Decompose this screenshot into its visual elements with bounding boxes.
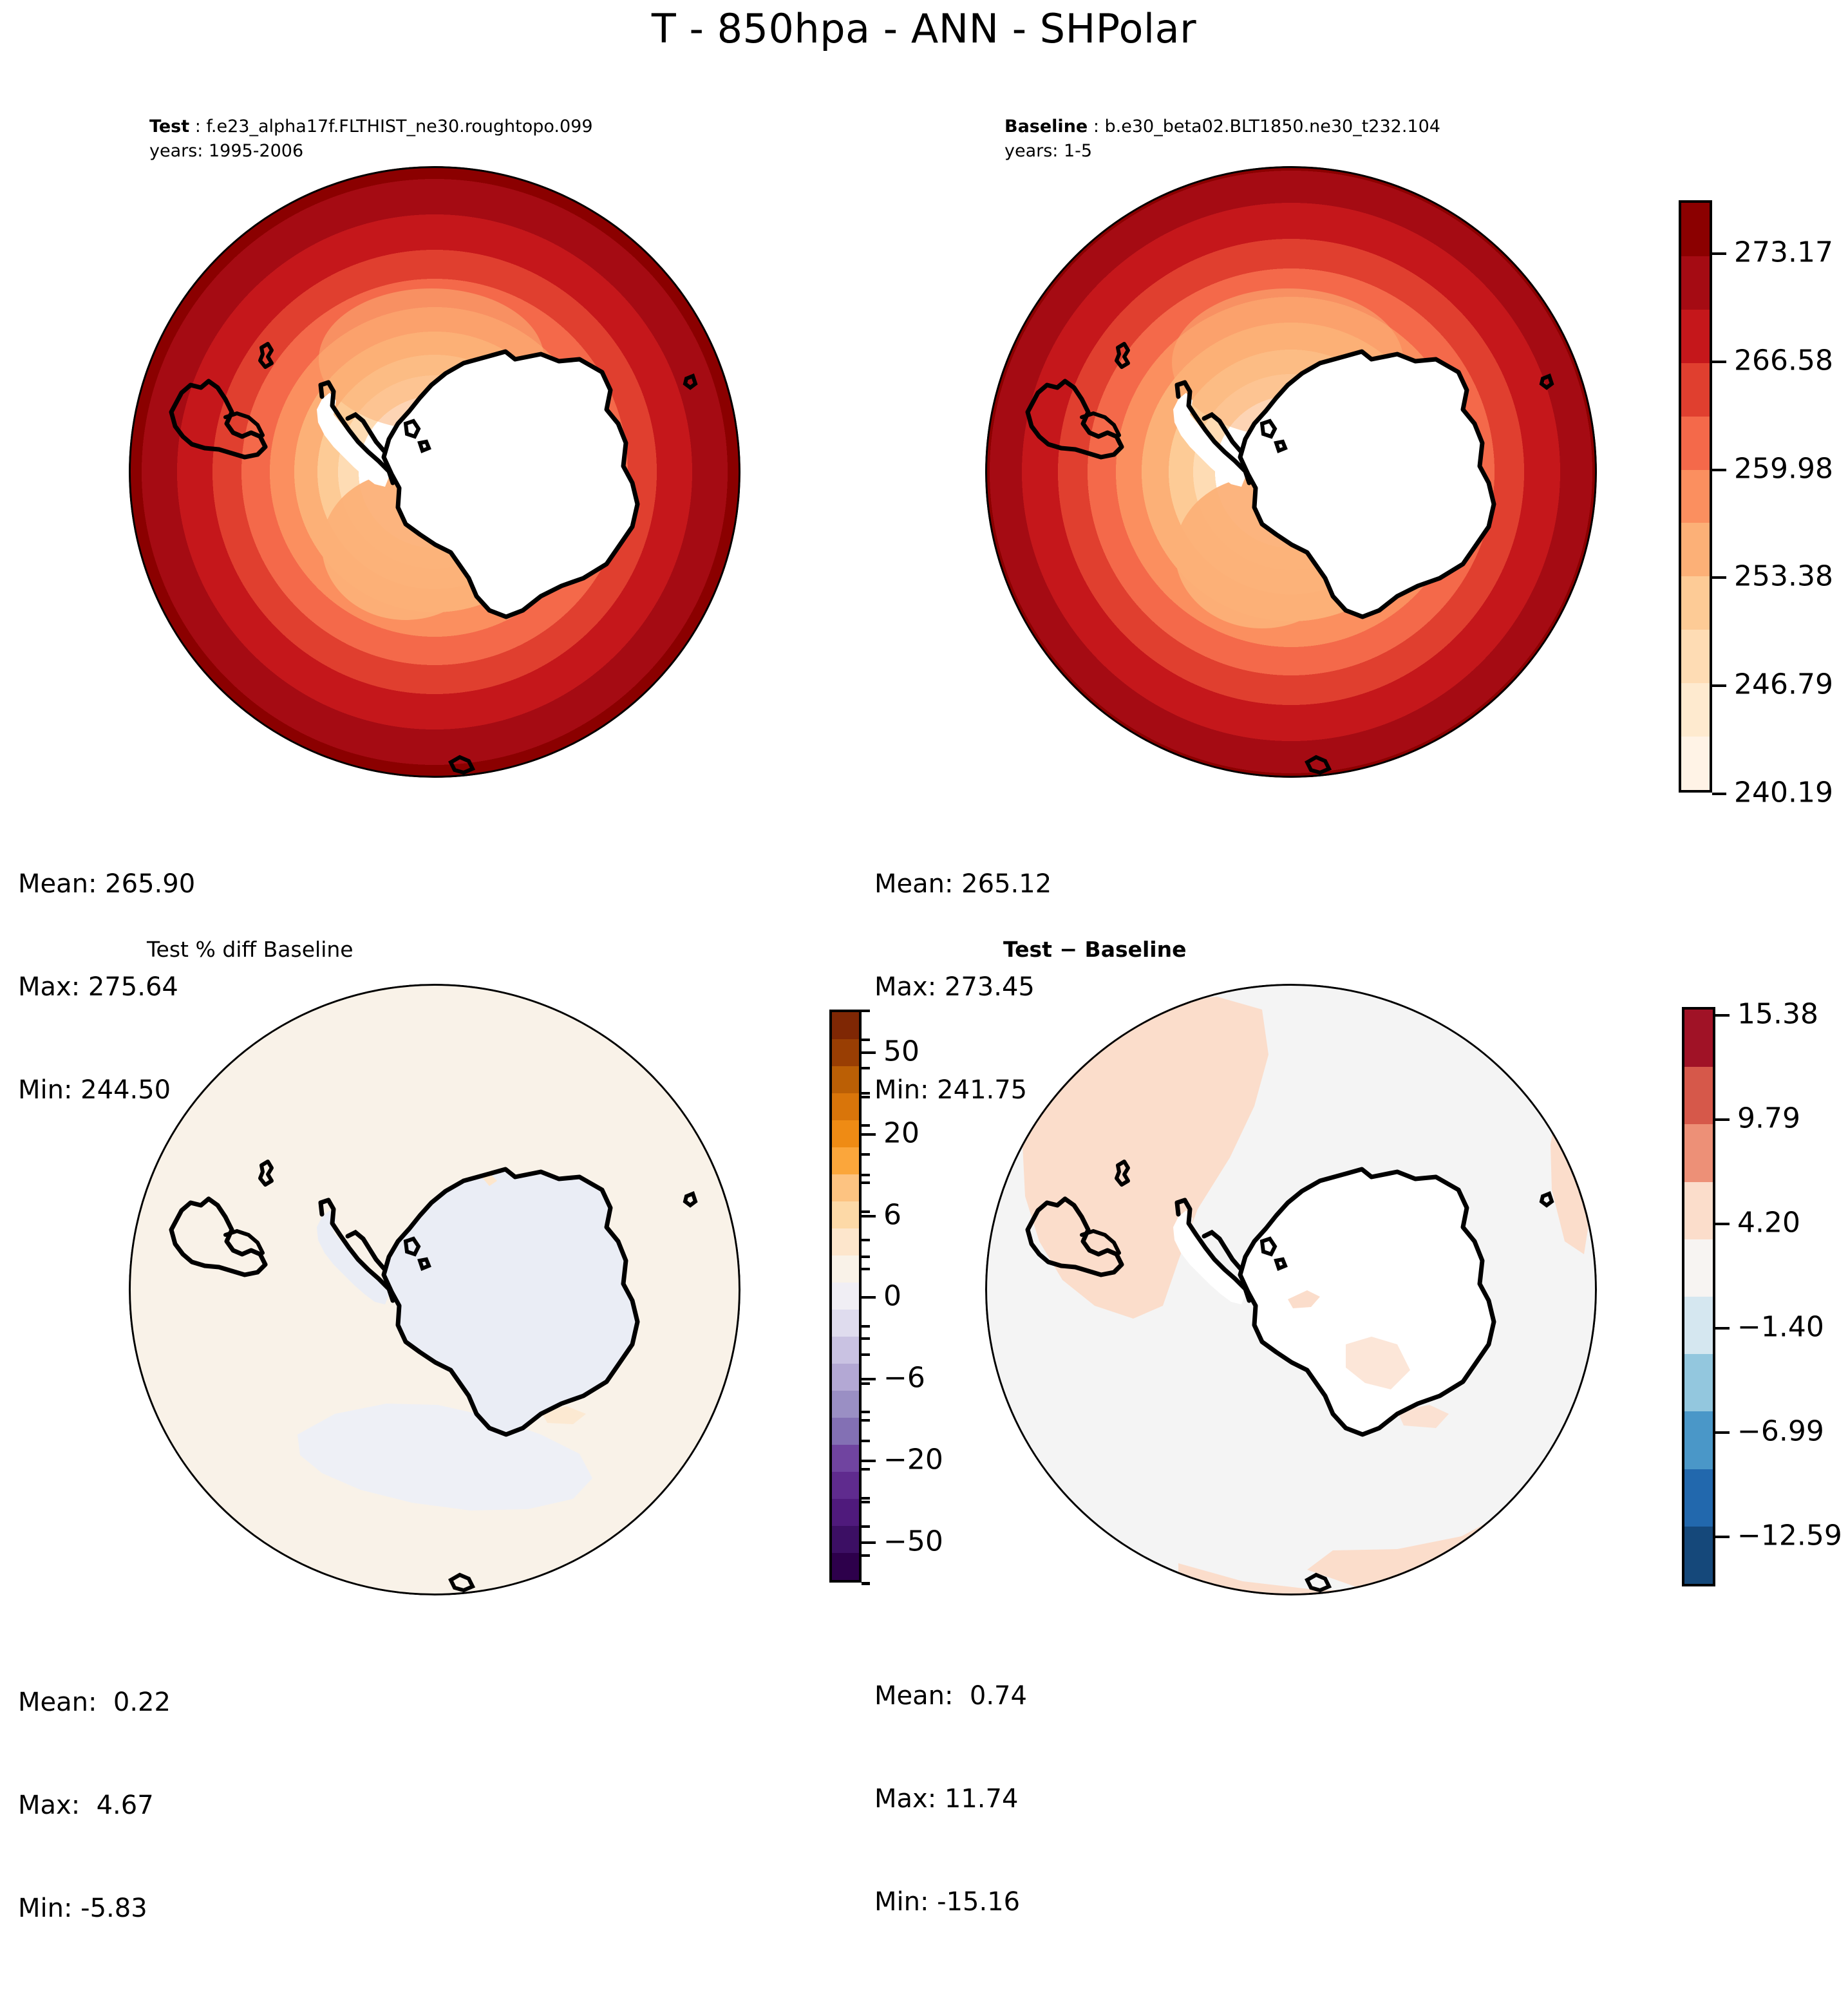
colorbar-band-1 [1684,1469,1713,1527]
colorbar-band-9 [1684,1010,1713,1067]
diff-mean: Mean: 0.74 [874,1679,1027,1713]
colorbar-tick-label: 273.17 [1734,236,1833,268]
colorbar-band-6 [832,1391,859,1418]
colorbar-tick-label: 50 [883,1035,919,1068]
colorbar-band-20 [832,1012,859,1039]
colorbar-minor-tick [862,1419,870,1422]
colorbar-boundary-tick [862,1525,870,1528]
difference-colorbar-ticks: 15.389.794.20−1.40−6.99−12.59 [1715,1007,1848,1586]
test-mean: Mean: 265.90 [18,867,195,901]
colorbar-band-8 [1684,1067,1713,1124]
colorbar-boundary-tick [862,1039,870,1041]
colorbar-band-8 [832,1337,859,1364]
page-title: T - 850hpa - ANN - SHPolar [0,5,1848,52]
colorbar-boundary-tick [862,1468,870,1471]
baseline-map-overlay [985,166,1597,778]
baseline-case-name: b.e30_beta02.BLT1850.ne30_t232.104 [1105,117,1440,136]
colorbar-tick-label: 253.38 [1734,560,1833,593]
colorbar-band-5 [1684,1239,1713,1297]
baseline-polar-map[interactable] [985,166,1597,778]
colorbar-boundary-tick [862,1153,870,1156]
diff-polar-map[interactable] [985,984,1597,1595]
colorbar-band-2 [832,1499,859,1526]
colorbar-tick [1712,361,1726,363]
colorbar-boundary-tick [862,1382,870,1385]
figure-canvas: T - 850hpa - ANN - SHPolar Test : f.e23_… [0,0,1848,1717]
colorbar-minor-tick [862,1174,870,1176]
colorbar-tick [862,1460,876,1462]
colorbar-tick-label: 4.20 [1737,1206,1800,1239]
colorbar-tick [862,1541,876,1544]
colorbar-boundary-tick [862,1210,870,1213]
colorbar-band-15 [832,1147,859,1174]
colorbar-tick-label: 6 [883,1198,901,1231]
colorbar-band-7 [1681,363,1710,417]
colorbar-band-17 [832,1093,859,1120]
colorbar-tick [1715,1223,1730,1225]
colorbar-tick [1712,576,1726,579]
colorbar-band-13 [832,1201,859,1228]
colorbar-tick-label: 0 [883,1280,901,1313]
colorbar-tick-label: −6.99 [1737,1415,1824,1447]
colorbar-boundary-tick [862,1181,870,1184]
diff-max: Max: 11.74 [874,1782,1027,1816]
colorbar-boundary-tick [862,1411,870,1413]
colorbar-tick [1715,1431,1730,1434]
colorbar-tick [862,1051,876,1054]
colorbar-band-7 [832,1364,859,1391]
baseline-separator: : [1088,117,1104,136]
colorbar-band-5 [1681,470,1710,523]
percent-diff-colorbar[interactable]: 502060−6−20−50 [829,1010,862,1583]
colorbar-tick-label: 246.79 [1734,668,1833,701]
colorbar-band-11 [832,1256,859,1283]
colorbar-band-10 [832,1283,859,1310]
colorbar-tick-label: −50 [883,1525,943,1557]
colorbar-boundary-tick [862,1010,870,1012]
colorbar-boundary-tick [862,1325,870,1328]
colorbar-band-9 [832,1310,859,1337]
colorbar-band-10 [1681,203,1710,256]
colorbar-band-6 [1684,1182,1713,1239]
colorbar-band-3 [1684,1354,1713,1411]
colorbar-boundary-tick [862,1353,870,1356]
colorbar-band-0 [832,1553,859,1580]
colorbar-band-18 [832,1066,859,1093]
colorbar-boundary-tick [862,1268,870,1270]
colorbar-tick-label: 240.19 [1734,776,1833,809]
colorbar-tick [862,1133,876,1136]
baseline-panel-header: Baseline : b.e30_beta02.BLT1850.ne30_t23… [1004,115,1440,164]
colorbar-tick [862,1215,876,1218]
colorbar-band-6 [1681,417,1710,470]
colorbar-tick-label: 259.98 [1734,452,1833,485]
diff-min: Min: -15.16 [874,1885,1027,1919]
colorbar-minor-tick [862,1501,870,1503]
colorbar-boundary-tick [862,1124,870,1127]
test-case-name: f.e23_alpha17f.FLTHIST_ne30.roughtopo.09… [206,117,592,136]
colorbar-boundary-tick [862,1239,870,1241]
colorbar-band-8 [1681,310,1710,363]
colorbar-band-2 [1681,630,1710,683]
colorbar-boundary-tick [862,1296,870,1299]
colorbar-boundary-tick [862,1554,870,1557]
colorbar-boundary-tick [862,1440,870,1442]
pctdiff-panel-title: Test % diff Baseline [147,935,354,964]
diff-stats: Mean: 0.74 Max: 11.74 Min: -15.16 [874,1611,1027,1988]
colorbar-tick-label: −1.40 [1737,1310,1824,1343]
colorbar-tick-label: −6 [883,1362,925,1395]
percent-diff-max: Max: 4.67 [18,1789,171,1823]
colorbar-minor-tick [862,1256,870,1258]
colorbar-tick-label: −20 [883,1444,943,1476]
baseline-mean: Mean: 265.12 [874,867,1051,901]
colorbar-tick [1715,1327,1730,1330]
difference-colorbar[interactable]: 15.389.794.20−1.40−6.99−12.59 [1682,1007,1715,1586]
test-years: years: 1995-2006 [149,139,593,164]
colorbar-tick [862,1378,876,1380]
colorbar-tick [1715,1014,1730,1017]
colorbar-tick [1715,1118,1730,1121]
difference-colorbar-gradient [1682,1007,1715,1586]
colorbar-band-19 [832,1039,859,1066]
colorbar-band-5 [832,1418,859,1445]
colorbar-band-12 [832,1228,859,1256]
main-colorbar-gradient [1679,200,1712,793]
main-colorbar-ticks: 273.17266.58259.98253.38246.79240.19 [1712,200,1848,793]
colorbar-boundary-tick [862,1096,870,1098]
colorbar-band-3 [832,1472,859,1499]
colorbar-minor-tick [862,1337,870,1340]
colorbar-band-0 [1681,737,1710,790]
colorbar-tick [1712,684,1726,687]
percent-diff-min: Min: -5.83 [18,1892,171,1926]
colorbar-band-16 [832,1120,859,1147]
colorbar-tick [1712,793,1726,795]
percent-diff-stats: Mean: 0.22 Max: 4.67 Min: -5.83 [18,1617,171,1994]
colorbar-band-4 [1681,523,1710,576]
diff-map-overlay [985,984,1597,1595]
test-label: Test [149,117,189,136]
percent-diff-overlay [129,984,740,1595]
colorbar-tick-label: 266.58 [1734,344,1833,377]
colorbar-tick [1712,469,1726,471]
colorbar-boundary-tick [862,1583,870,1585]
baseline-label: Baseline [1004,117,1088,136]
colorbar-band-14 [832,1174,859,1201]
colorbar-tick-label: 20 [883,1116,919,1149]
colorbar-tick [1715,1536,1730,1538]
colorbar-tick-label: 15.38 [1737,997,1818,1030]
colorbar-tick-label: 9.79 [1737,1102,1800,1134]
colorbar-boundary-tick [862,1067,870,1069]
colorbar-band-9 [1681,256,1710,310]
colorbar-band-1 [832,1526,859,1553]
colorbar-boundary-tick [862,1497,870,1500]
colorbar-tick [1712,252,1726,255]
colorbar-tick-label: −12.59 [1737,1519,1842,1552]
test-panel-header: Test : f.e23_alpha17f.FLTHIST_ne30.rough… [149,115,593,164]
baseline-years: years: 1-5 [1004,139,1440,164]
colorbar-band-1 [1681,683,1710,737]
colorbar-band-0 [1684,1527,1713,1584]
percent-diff-polar-map[interactable] [129,984,740,1595]
main-temperature-colorbar[interactable]: 273.17266.58259.98253.38246.79240.19 [1679,200,1712,793]
percent-diff-colorbar-gradient [829,1010,862,1583]
colorbar-band-4 [1684,1297,1713,1354]
percent-diff-mean: Mean: 0.22 [18,1686,171,1720]
test-polar-map[interactable] [129,166,740,778]
colorbar-band-4 [832,1445,859,1472]
test-map-overlay [129,166,740,778]
colorbar-band-7 [1684,1124,1713,1181]
colorbar-band-3 [1681,576,1710,630]
test-separator: : [189,117,206,136]
colorbar-minor-tick [862,1092,870,1095]
colorbar-band-2 [1684,1411,1713,1469]
diff-panel-title: Test − Baseline [1003,935,1187,964]
